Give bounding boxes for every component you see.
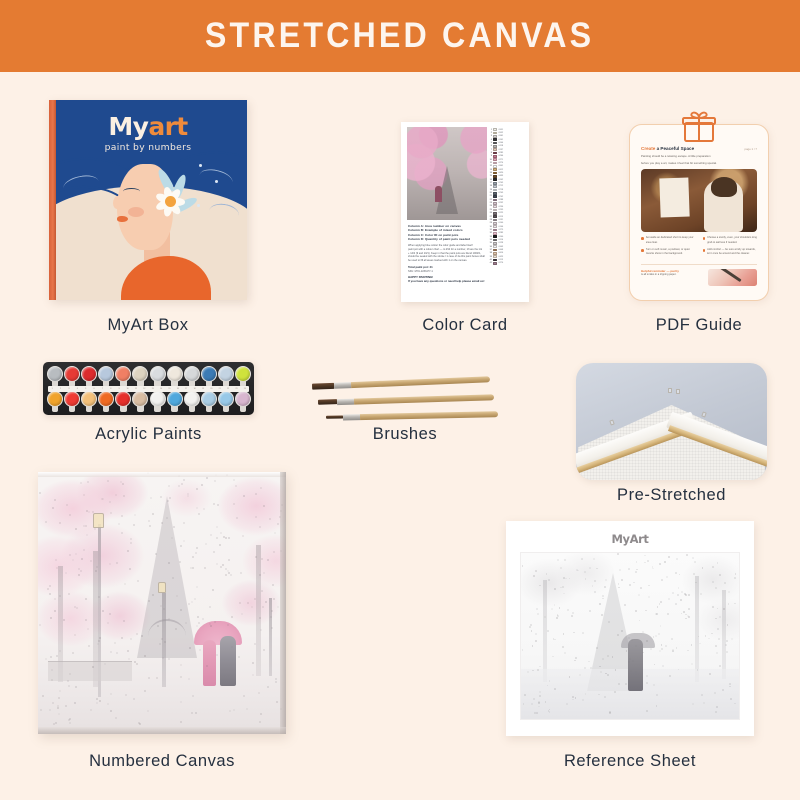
paint-strip-tick: 2 xyxy=(56,388,64,390)
canvas-number-speck xyxy=(183,479,185,481)
paint-strip-tick: 4 xyxy=(73,388,81,390)
contact-text: If you have any questions or need help p… xyxy=(408,279,522,284)
reference-number-speck xyxy=(646,640,648,642)
canvas-number-speck xyxy=(195,712,197,714)
label-numbered-canvas: Numbered Canvas xyxy=(38,752,286,771)
canvas-number-speck xyxy=(235,485,237,487)
canvas-number-speck xyxy=(213,503,215,505)
paint-strip-tick: 11 xyxy=(132,388,140,390)
reference-number-speck xyxy=(635,671,637,673)
reference-number-speck xyxy=(646,682,648,684)
canvas-number-speck xyxy=(166,517,168,519)
canvas-number-speck xyxy=(205,543,207,545)
paint-pot-tab xyxy=(69,406,75,412)
canvas-number-speck xyxy=(56,567,58,569)
brush-bristle xyxy=(318,400,337,405)
reference-number-speck xyxy=(564,652,566,654)
reference-number-speck xyxy=(726,651,728,653)
bullet-dot-icon xyxy=(703,249,706,252)
canvas-number-speck xyxy=(214,621,216,623)
canvas-number-speck xyxy=(187,493,189,495)
canvas-number-speck xyxy=(144,690,146,692)
reference-number-speck xyxy=(726,640,728,642)
canvas-number-speck xyxy=(267,559,269,561)
reference-number-speck xyxy=(537,613,539,615)
reference-number-speck xyxy=(628,568,630,570)
brush-medium xyxy=(318,394,494,405)
reference-number-speck xyxy=(659,650,661,652)
canvas-number-speck xyxy=(49,593,51,595)
reference-number-speck xyxy=(589,567,591,569)
paint-pot xyxy=(184,391,200,412)
canvas-number-speck xyxy=(201,484,203,486)
guide-bullet-col-right: Choose a sturdy, even, your shoulders lo… xyxy=(703,236,758,260)
paint-pot xyxy=(201,366,217,387)
canvas-edge-right xyxy=(280,472,286,734)
reference-number-speck xyxy=(654,664,656,666)
canvas-number-speck xyxy=(220,532,222,534)
canvas-number-speck xyxy=(115,717,117,719)
guide-bullet-text: Choose a sturdy, even, your shoulders lo… xyxy=(707,236,757,244)
box-tagline: paint by numbers xyxy=(49,142,247,153)
canvas-number-speck xyxy=(160,496,162,498)
canvas-number-speck xyxy=(156,677,158,679)
brush-ferrule xyxy=(334,382,351,388)
canvas-number-speck xyxy=(198,513,200,515)
canvas-number-speck xyxy=(262,606,264,608)
paint-pot xyxy=(201,391,217,412)
reference-number-speck xyxy=(662,665,664,667)
reference-number-speck xyxy=(532,645,534,647)
reference-number-speck xyxy=(661,648,663,650)
prestretched-image xyxy=(576,363,767,480)
reference-number-speck xyxy=(533,575,535,577)
canvas-number-speck xyxy=(59,522,61,524)
paint-pot-tab xyxy=(206,406,212,412)
canvas-number-speck xyxy=(68,685,70,687)
paint-strip-tick: 18 xyxy=(190,388,198,390)
canvas-number-speck xyxy=(78,574,80,576)
reference-number-speck xyxy=(734,603,736,605)
reference-number-speck xyxy=(715,711,717,713)
reference-number-speck xyxy=(718,638,720,640)
reference-number-speck xyxy=(712,581,714,583)
paint-pot-cap xyxy=(132,366,148,382)
brush-handle xyxy=(354,394,494,404)
canvas-number-speck xyxy=(155,553,157,555)
label-reference-sheet: Reference Sheet xyxy=(506,752,754,771)
reference-number-speck xyxy=(559,607,561,609)
reference-number-speck xyxy=(734,577,736,579)
reference-number-speck xyxy=(624,604,626,606)
paint-pot-cap xyxy=(167,366,183,382)
paint-pot-cap xyxy=(184,391,200,407)
reference-number-speck xyxy=(567,609,569,611)
canvas-number-speck xyxy=(96,702,98,704)
reference-number-speck xyxy=(563,633,565,635)
reference-number-speck xyxy=(719,616,721,618)
color-card-image: Column A: Area number on canvas Column B… xyxy=(401,122,529,302)
label-acrylic-paints: Acrylic Paints xyxy=(43,425,254,444)
canvas-number-speck xyxy=(273,551,275,553)
reference-number-speck xyxy=(688,616,690,618)
reference-number-speck xyxy=(644,555,646,557)
paint-pot-cap xyxy=(98,391,114,407)
canvas-number-speck xyxy=(172,577,174,579)
paint-pot xyxy=(64,391,80,412)
guide-heading: Create a Peaceful Space xyxy=(641,146,757,152)
reference-number-speck xyxy=(538,701,540,703)
guide-intro-line: before you play a art, makes it feel tha… xyxy=(641,161,757,165)
reference-number-speck xyxy=(604,696,606,698)
reference-number-speck xyxy=(536,712,538,714)
canvas-number-speck xyxy=(51,669,53,671)
paint-pot xyxy=(132,391,148,412)
canvas-number-speck xyxy=(76,607,78,609)
paint-strip-tick: 22 xyxy=(224,388,232,390)
canvas-number-speck xyxy=(246,708,248,710)
canvas-number-speck xyxy=(260,713,262,715)
color-card-photo xyxy=(407,127,487,220)
canvas-number-speck xyxy=(274,532,276,534)
reference-number-speck xyxy=(657,606,659,608)
paint-pot-tab xyxy=(103,406,109,412)
reference-number-speck xyxy=(602,595,604,597)
paint-pot-cap xyxy=(115,366,131,382)
canvas-number-speck xyxy=(216,537,218,539)
reference-number-speck xyxy=(684,593,686,595)
canvas-number-speck xyxy=(107,596,109,598)
reference-number-speck xyxy=(554,639,556,641)
canvas-number-speck xyxy=(109,563,111,565)
reference-number-speck xyxy=(590,667,592,669)
reference-number-speck xyxy=(609,712,611,714)
paint-pot-tab xyxy=(154,406,160,412)
canvas-number-speck xyxy=(238,656,240,658)
reference-number-speck xyxy=(596,647,598,649)
paint-strip-tick: 8 xyxy=(107,388,115,390)
reference-number-speck xyxy=(535,640,537,642)
paint-pot-cap xyxy=(132,391,148,407)
reference-number-speck xyxy=(717,628,719,630)
canvas-number-speck xyxy=(261,558,263,560)
paint-pot xyxy=(218,391,234,412)
canvas-number-speck xyxy=(271,610,273,612)
canvas-number-speck xyxy=(260,487,262,489)
reference-number-speck xyxy=(572,696,574,698)
canvas-number-speck xyxy=(86,534,88,536)
canvas-number-speck xyxy=(168,485,170,487)
brush-fine xyxy=(326,411,498,420)
paint-pot-tab xyxy=(137,406,143,412)
label-myart-box: MyArt Box xyxy=(49,316,247,335)
reference-number-speck xyxy=(582,632,584,634)
canvas-number-speck xyxy=(195,552,197,554)
paint-pot xyxy=(98,366,114,387)
canvas-number-speck xyxy=(251,606,253,608)
reference-number-speck xyxy=(668,598,670,600)
canvas-number-speck xyxy=(225,574,227,576)
reference-number-speck xyxy=(693,573,695,575)
reference-number-speck xyxy=(676,647,678,649)
reference-number-speck xyxy=(602,658,604,660)
paint-pot xyxy=(81,366,97,387)
flower-center xyxy=(165,196,176,207)
eiffel-tower-arch xyxy=(148,619,186,653)
canvas-number-speck xyxy=(74,702,76,704)
canvas-number-speck xyxy=(216,526,218,528)
canvas-number-speck xyxy=(101,498,103,500)
reference-sheet-image: MyArt xyxy=(506,521,754,736)
reference-number-speck xyxy=(607,674,609,676)
paint-pot-tab xyxy=(189,406,195,412)
canvas-number-speck xyxy=(189,647,191,649)
reference-number-speck xyxy=(584,667,586,669)
reference-number-speck xyxy=(728,603,730,605)
canvas-number-speck xyxy=(147,710,149,712)
reference-number-speck xyxy=(729,683,731,685)
canvas-number-speck xyxy=(75,686,77,688)
closed-eye xyxy=(123,188,140,195)
canvas-number-speck xyxy=(192,567,194,569)
paint-strip-tick: 1 xyxy=(48,388,56,390)
paint-strip-tick: 3 xyxy=(65,388,73,390)
canvas-number-speck xyxy=(180,676,182,678)
reference-number-speck xyxy=(539,666,541,668)
bullet-dot-icon xyxy=(703,237,706,240)
reference-number-speck xyxy=(539,585,541,587)
reference-number-speck xyxy=(631,639,633,641)
canvas-number-speck xyxy=(191,712,193,714)
reference-number-speck xyxy=(677,594,679,596)
reference-number-speck xyxy=(593,558,595,560)
paint-row-top xyxy=(47,366,250,387)
guide-bullet-text: Add comfort — be sure at tidy up towards… xyxy=(707,248,757,256)
label-color-card: Color Card xyxy=(401,316,529,335)
reference-number-speck xyxy=(683,611,685,613)
canvas-number-speck xyxy=(196,586,198,588)
page-number: page 1 / 7 xyxy=(745,147,757,151)
canvas-number-speck xyxy=(110,693,112,695)
bullet-dot-icon xyxy=(641,249,644,252)
paint-pot-cap xyxy=(115,391,131,407)
canvas-number-speck xyxy=(267,686,269,688)
figure-shape xyxy=(628,639,643,691)
reference-number-speck xyxy=(547,630,549,632)
canvas-number-speck xyxy=(150,497,152,499)
canvas-number-speck xyxy=(81,558,83,560)
canvas-number-speck xyxy=(254,643,256,645)
canvas-number-speck xyxy=(42,695,44,697)
reference-number-speck xyxy=(653,684,655,686)
guide-footer-body: is all smiles in a tripping paper. xyxy=(641,273,703,277)
reference-number-speck xyxy=(668,556,670,558)
paint-pot-cap xyxy=(235,366,251,382)
reference-number-speck xyxy=(655,635,657,637)
reference-number-speck xyxy=(539,695,541,697)
reference-number-speck xyxy=(535,633,537,635)
reference-number-speck xyxy=(691,644,693,646)
canvas-number-speck xyxy=(203,508,205,510)
guide-bullet-col-left: Set aside an dedicated short to keep you… xyxy=(641,236,696,260)
reference-number-speck xyxy=(581,558,583,560)
canvas-number-speck xyxy=(83,549,85,551)
canvas-number-speck xyxy=(54,598,56,600)
reference-number-speck xyxy=(617,553,619,555)
canvas-number-speck xyxy=(121,637,123,639)
canvas-number-speck xyxy=(210,625,212,627)
canvas-number-speck xyxy=(176,595,178,597)
staple-icon xyxy=(676,389,680,394)
reference-number-speck xyxy=(575,657,577,659)
reference-number-speck xyxy=(531,630,533,632)
reference-number-speck xyxy=(716,706,718,708)
canvas-number-speck xyxy=(265,601,267,603)
canvas-number-speck xyxy=(183,522,185,524)
canvas-number-speck xyxy=(110,710,112,712)
paint-strip-tick: 7 xyxy=(98,388,106,390)
tree-trunk xyxy=(543,580,547,683)
paint-pot xyxy=(167,391,183,412)
canvas-number-speck xyxy=(130,538,132,540)
canvas-number-speck xyxy=(39,492,41,494)
paint-strip-tick: 17 xyxy=(182,388,190,390)
reference-number-speck xyxy=(658,633,660,635)
canvas-number-speck xyxy=(47,588,49,590)
canvas-number-speck xyxy=(65,572,67,574)
acrylic-paints-image: 123456789101112131415161718192021222324 xyxy=(43,362,254,415)
canvas-number-speck xyxy=(133,524,135,526)
swatch-chip xyxy=(493,262,497,265)
canvas-number-speck xyxy=(233,503,235,505)
nose-shape xyxy=(113,196,122,209)
canvas-number-speck xyxy=(269,518,271,520)
paint-pot-cap xyxy=(47,391,63,407)
reference-number-speck xyxy=(646,710,648,712)
canvas-number-speck xyxy=(261,590,263,592)
canvas-number-speck xyxy=(222,564,224,566)
paint-pot-tab xyxy=(223,406,229,412)
canvas-number-speck xyxy=(121,532,123,534)
canvas-number-speck xyxy=(239,602,241,604)
reference-number-speck xyxy=(639,620,641,622)
canvas-number-speck xyxy=(230,574,232,576)
canvas-number-speck xyxy=(54,610,56,612)
canvas-number-speck xyxy=(188,603,190,605)
canvas-number-speck xyxy=(199,649,201,651)
reference-number-speck xyxy=(694,561,696,563)
canvas-number-speck xyxy=(125,694,127,696)
canvas-number-speck xyxy=(163,608,165,610)
reference-number-speck xyxy=(642,631,644,633)
canvas-number-speck xyxy=(134,661,136,663)
guide-heading-accent: Create xyxy=(641,146,655,151)
paint-pot-cap xyxy=(150,391,166,407)
reference-number-speck xyxy=(640,587,642,589)
brush-ferrule xyxy=(337,399,354,405)
paint-strip-tick: 12 xyxy=(140,388,148,390)
canvas-number-speck xyxy=(65,705,67,707)
reference-number-speck xyxy=(648,596,650,598)
canvas-number-speck xyxy=(213,551,215,553)
reference-number-speck xyxy=(594,591,596,593)
canvas-number-speck xyxy=(63,619,65,621)
canvas-number-speck xyxy=(95,570,97,572)
canvas-number-speck xyxy=(85,525,87,527)
gift-icon xyxy=(680,108,718,144)
canvas-number-speck xyxy=(169,497,171,499)
paint-strip-tick: 19 xyxy=(199,388,207,390)
paint-pot-cap xyxy=(201,366,217,382)
canvas-number-speck xyxy=(216,563,218,565)
reference-number-speck xyxy=(731,638,733,640)
reference-number-speck xyxy=(700,593,702,595)
reference-number-speck xyxy=(724,582,726,584)
reference-number-speck xyxy=(560,567,562,569)
reference-number-speck xyxy=(573,632,575,634)
reference-number-speck xyxy=(554,588,556,590)
myart-box-image: Myart paint by numbers xyxy=(49,100,247,300)
paint-pot-tab xyxy=(171,406,177,412)
canvas-number-speck xyxy=(123,620,125,622)
canvas-number-speck xyxy=(152,594,154,596)
box-logo: Myart paint by numbers xyxy=(49,112,247,153)
reference-number-speck xyxy=(647,560,649,562)
guide-heading-rest: a Peaceful Space xyxy=(657,146,695,151)
canvas-number-speck xyxy=(102,610,104,612)
reference-number-speck xyxy=(522,565,524,567)
reference-number-speck xyxy=(552,656,554,658)
reference-number-speck xyxy=(715,618,717,620)
figure-shape xyxy=(435,186,442,202)
reference-number-speck xyxy=(536,608,538,610)
reference-number-speck xyxy=(548,579,550,581)
reference-number-speck xyxy=(556,617,558,619)
reference-number-speck xyxy=(735,573,737,575)
canvas-number-speck xyxy=(55,722,57,724)
canvas-number-speck xyxy=(152,513,154,515)
label-pdf-guide: PDF Guide xyxy=(629,316,769,335)
canvas-number-speck xyxy=(263,505,265,507)
reference-number-speck xyxy=(522,649,524,651)
cheek-blush xyxy=(128,207,144,217)
paint-pot xyxy=(235,391,251,412)
color-swatch-table: 1095120952309614010150104601187013780285… xyxy=(488,128,524,265)
paint-strip-tick: 9 xyxy=(115,388,123,390)
canvas-number-speck xyxy=(210,534,212,536)
paint-pot-cap xyxy=(201,391,217,407)
paint-pot-cap xyxy=(64,366,80,382)
canvas-number-speck xyxy=(110,512,112,514)
reference-number-speck xyxy=(716,652,718,654)
canvas-number-speck xyxy=(83,494,85,496)
canvas-number-speck xyxy=(88,511,90,513)
canvas-number-speck xyxy=(259,574,261,576)
reference-number-speck xyxy=(681,591,683,593)
reference-number-speck xyxy=(660,601,662,603)
canvas-number-speck xyxy=(59,650,61,652)
reference-number-speck xyxy=(701,694,703,696)
guide-intro-line: Painting should be a relaxing escape. A … xyxy=(641,154,757,158)
canvas-edge-bottom xyxy=(38,727,286,734)
canvas-number-speck xyxy=(263,572,265,574)
canvas-number-speck xyxy=(129,568,131,570)
reference-sheet-logo: MyArt xyxy=(520,532,740,546)
canvas-number-speck xyxy=(55,559,57,561)
canvas-number-speck xyxy=(148,520,150,522)
guide-footer-image xyxy=(708,269,757,286)
canvas-number-speck xyxy=(107,480,109,482)
